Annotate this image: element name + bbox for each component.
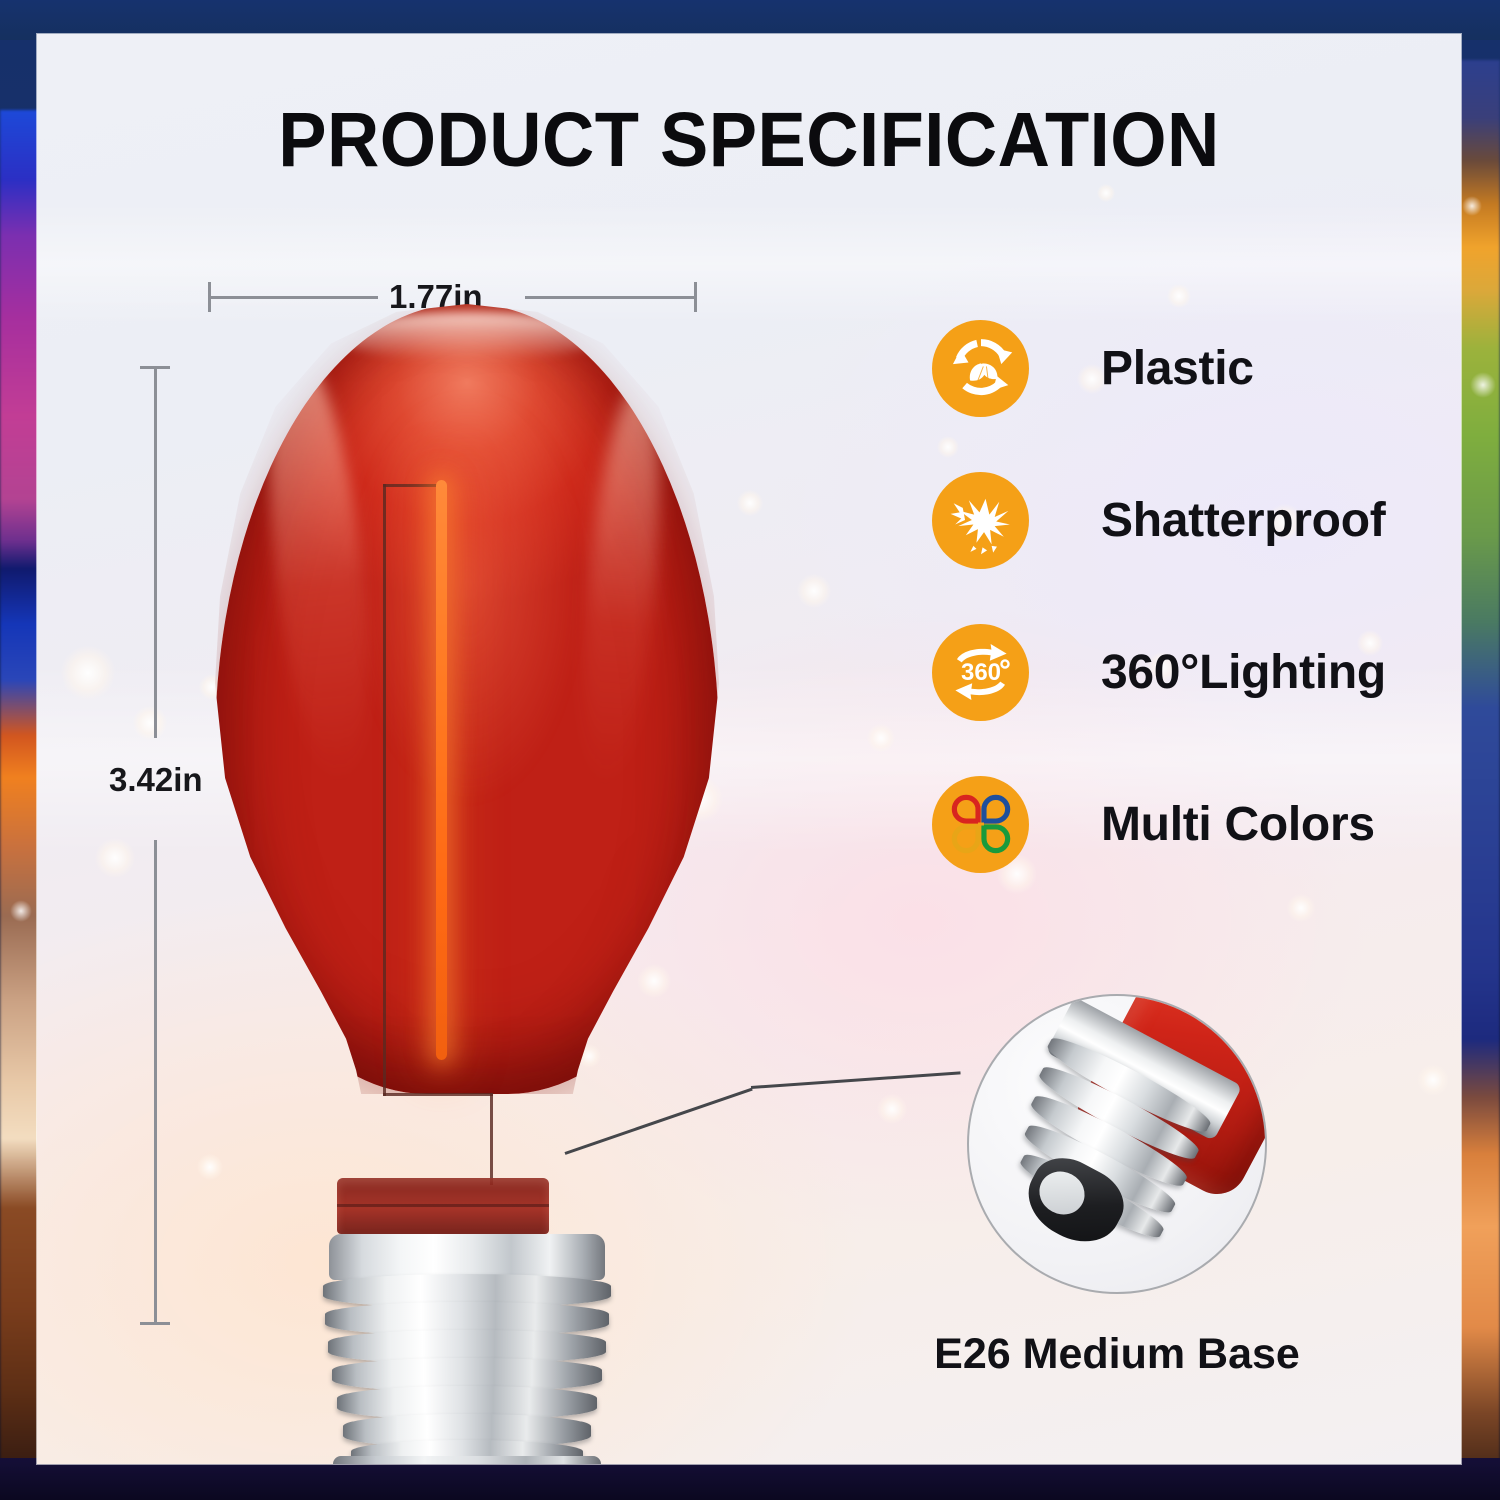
recycle-leaf-icon [932,320,1029,417]
feature-item-multi-colors[interactable]: Multi Colors [932,748,1461,900]
base-skirt [333,1456,601,1464]
callout-label: E26 Medium Base [797,1330,1437,1379]
callout-leader-line [751,1071,961,1089]
bulb-glass-top-rim [335,312,605,360]
height-dimension-line-bottom [154,840,157,1324]
width-dimension-line-left [208,296,378,299]
bokeh-dot [867,724,895,752]
bokeh-dot [133,706,167,740]
height-dimension-line-top [154,366,157,738]
bulb-glass-shape [215,304,719,1094]
feature-label: 360°Lighting [1101,645,1386,700]
feature-item-plastic[interactable]: Plastic [932,292,1461,444]
feature-label: Multi Colors [1101,797,1375,852]
shatter-burst-icon [932,472,1029,569]
rotation-360-icon: 360 [932,624,1029,721]
bokeh-dot [877,1094,907,1124]
height-dimension-cap-bottom [140,1322,170,1325]
specification-card: PRODUCT SPECIFICATION 1.77in 3.42in [37,34,1461,1464]
e26-screw-base [319,1234,615,1464]
base-magnifier-callout [967,994,1267,1294]
feature-label: Plastic [1101,341,1254,396]
backdrop-sparkle [10,900,32,922]
backdrop-sparkle [1462,196,1482,216]
bokeh-dot [95,838,135,878]
feature-label: Shatterproof [1101,493,1385,548]
magnifier-circle [967,994,1267,1294]
four-petal-color-icon [932,776,1029,873]
bokeh-dot [61,646,115,700]
page-title: PRODUCT SPECIFICATION [80,96,1419,185]
product-bulb-image [187,304,747,1349]
filament-support-wire [383,484,386,1096]
bokeh-dot [797,574,831,608]
feature-item-shatterproof[interactable]: Shatterproof [932,444,1461,596]
bokeh-dot [1417,1064,1449,1096]
feature-item-360-lighting[interactable]: 360 360°Lighting [932,596,1461,748]
led-filament [436,480,447,1060]
bulb-glass-inner-glow [337,400,599,1060]
feature-list: Plastic Shatterproof [932,292,1461,900]
svg-text:360: 360 [960,659,1000,686]
backdrop-bottom-band [0,1458,1500,1500]
backdrop-sparkle [1470,372,1496,398]
bokeh-dot [1097,184,1115,202]
filament-support-wire [383,1093,493,1096]
bulb-neck-plate [337,1178,549,1234]
filament-support-wire [490,1093,493,1185]
bulb-glass-envelope [215,304,719,1094]
width-dimension-line-right [525,296,697,299]
